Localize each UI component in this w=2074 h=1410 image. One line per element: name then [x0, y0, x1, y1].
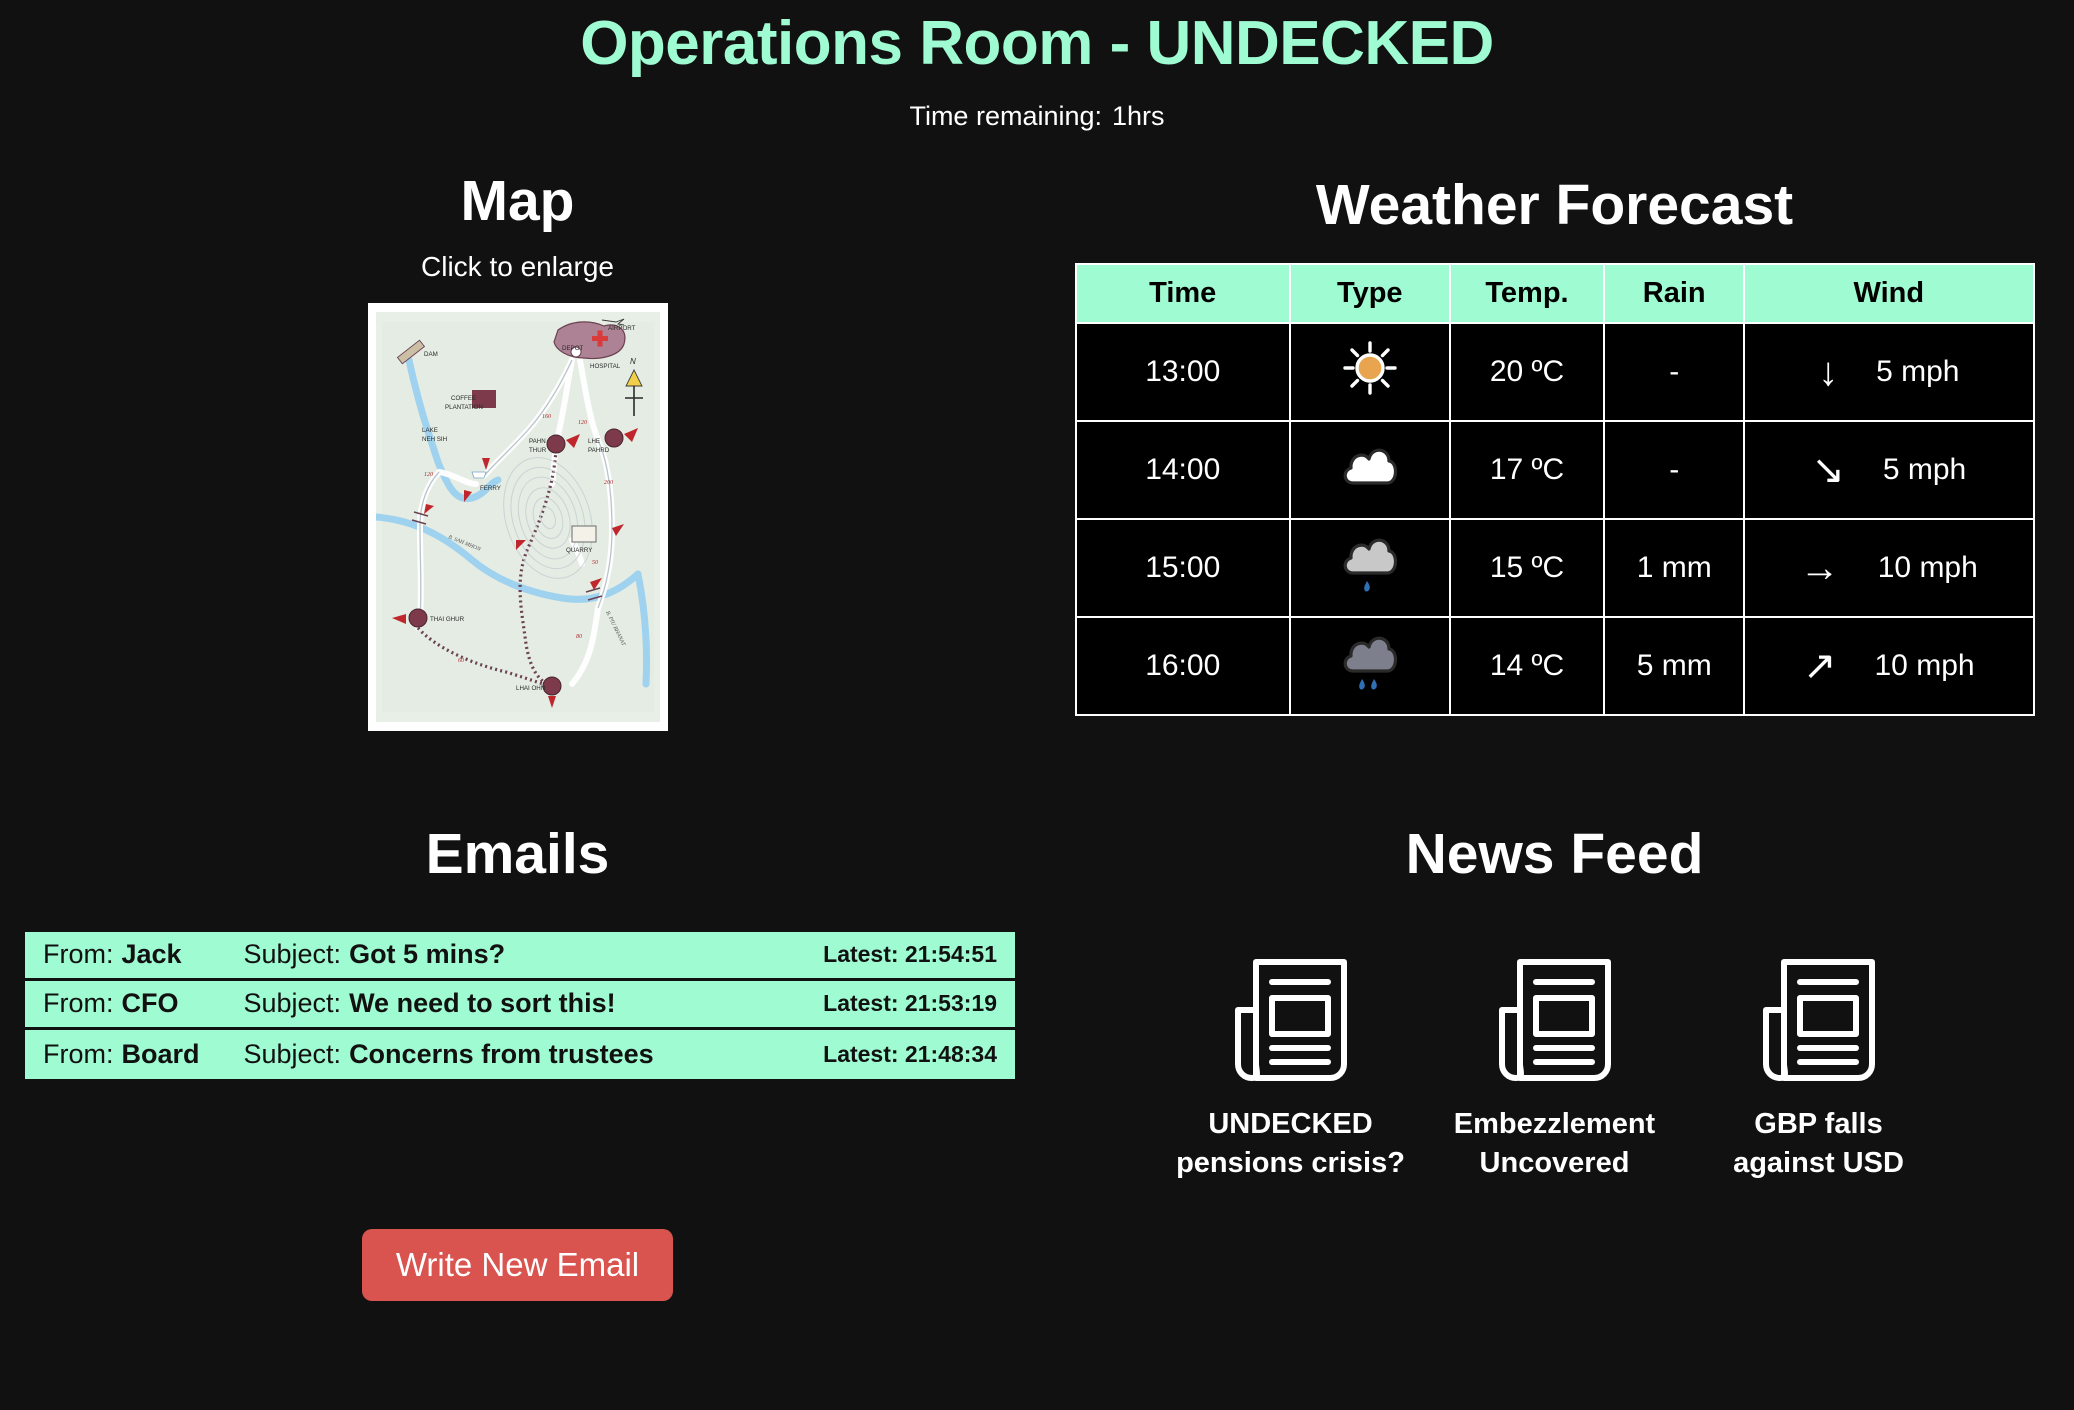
cell-rain: 1 mm — [1604, 519, 1744, 617]
wind-direction-arrow-icon: → — [1800, 548, 1840, 588]
email-subject: Concerns from trustees — [349, 1039, 654, 1070]
cell-wind: ↘ 5 mph — [1744, 421, 2033, 519]
svg-text:QUARRY: QUARRY — [566, 547, 592, 554]
email-latest-time: Latest: 21:53:19 — [823, 990, 997, 1017]
svg-text:HOSPITAL: HOSPITAL — [590, 363, 621, 370]
cell-temp: 17 ºC — [1450, 421, 1605, 519]
news-headline: Embezzlement Uncovered — [1440, 1105, 1670, 1183]
news-panel: News Feed — [1035, 731, 2074, 1301]
weather-heading: Weather Forecast — [1035, 174, 2074, 237]
cell-time: 14:00 — [1076, 421, 1290, 519]
cell-time: 16:00 — [1076, 617, 1290, 715]
map-heading: Map — [0, 170, 1035, 233]
map-image[interactable]: DAM DEPOT AIRPORT HOSPITAL COFFEE PLANTA… — [376, 312, 660, 722]
table-row: 13:00 — [1076, 323, 2034, 421]
svg-text:DEPOT: DEPOT — [562, 345, 584, 352]
cell-rain: - — [1604, 323, 1744, 421]
newspaper-icon — [1480, 952, 1630, 1087]
svg-text:AIRPORT: AIRPORT — [608, 325, 636, 332]
operations-room-page: Operations Room - UNDECKED Time remainin… — [0, 8, 2074, 1410]
cell-temp: 20 ºC — [1450, 323, 1605, 421]
svg-text:80: 80 — [576, 634, 582, 640]
wind-speed: 5 mph — [1883, 453, 1966, 487]
weather-forecast-table: Time Type Temp. Rain Wind 13:00 — [1075, 263, 2035, 716]
column-header-rain: Rain — [1604, 264, 1744, 323]
cell-wind: ↓ 5 mph — [1744, 323, 2033, 421]
cell-rain: - — [1604, 421, 1744, 519]
wind-direction-arrow-icon: ↗ — [1803, 646, 1837, 686]
list-item[interactable]: GBP falls against USD — [1704, 952, 1934, 1183]
cell-type — [1290, 323, 1450, 421]
list-item[interactable]: From: Jack Subject: Got 5 mins? Latest: … — [25, 932, 1015, 981]
svg-text:DAM: DAM — [424, 351, 438, 358]
time-remaining-label: Time remaining: — [909, 101, 1102, 131]
newspaper-icon — [1744, 952, 1894, 1087]
wind-speed: 10 mph — [1878, 551, 1978, 585]
weather-panel: Weather Forecast Time Type Temp. Rain Wi… — [1035, 132, 2074, 731]
svg-text:N: N — [630, 357, 636, 366]
emails-heading: Emails — [0, 823, 1035, 886]
map-panel: Map Click to enlarge — [0, 132, 1035, 731]
svg-text:PAHN: PAHN — [529, 438, 546, 445]
column-header-temp: Temp. — [1450, 264, 1605, 323]
cloud-icon — [1339, 441, 1401, 499]
time-remaining: Time remaining:1hrs — [0, 101, 2074, 132]
cloud-heavy-rain-icon — [1339, 629, 1401, 703]
email-from-label: From: — [43, 1039, 114, 1070]
table-row: 16:00 14 ºC — [1076, 617, 2034, 715]
news-headline: UNDECKED pensions crisis? — [1176, 1105, 1406, 1183]
email-from-label: From: — [43, 988, 114, 1019]
svg-text:NEH SIH: NEH SIH — [422, 436, 447, 443]
cell-type — [1290, 519, 1450, 617]
news-item-list: UNDECKED pensions crisis? — [1035, 952, 2074, 1183]
wind-speed: 5 mph — [1876, 355, 1959, 389]
svg-text:60: 60 — [458, 658, 464, 664]
map-frame[interactable]: DAM DEPOT AIRPORT HOSPITAL COFFEE PLANTA… — [368, 303, 668, 731]
write-new-email-button[interactable]: Write New Email — [362, 1229, 673, 1301]
news-heading: News Feed — [1035, 823, 2074, 886]
email-subject: We need to sort this! — [349, 988, 616, 1019]
column-header-type: Type — [1290, 264, 1450, 323]
email-sender: Jack — [122, 939, 214, 970]
time-remaining-value: 1hrs — [1112, 101, 1165, 131]
email-subject-label: Subject: — [244, 1039, 342, 1070]
cloud-light-rain-icon — [1339, 531, 1401, 605]
email-latest-time: Latest: 21:54:51 — [823, 941, 997, 968]
table-header-row: Time Type Temp. Rain Wind — [1076, 264, 2034, 323]
email-sender: CFO — [122, 988, 214, 1019]
list-item[interactable]: Embezzlement Uncovered — [1440, 952, 1670, 1183]
svg-text:120: 120 — [578, 420, 587, 426]
svg-text:200: 200 — [604, 480, 613, 486]
email-sender: Board — [122, 1039, 214, 1070]
wind-speed: 10 mph — [1875, 649, 1975, 683]
svg-text:LHE: LHE — [588, 438, 600, 445]
list-item[interactable]: From: Board Subject: Concerns from trust… — [25, 1030, 1015, 1079]
svg-text:120: 120 — [424, 472, 433, 478]
svg-text:160: 160 — [542, 414, 551, 420]
svg-text:THUR: THUR — [529, 447, 547, 454]
list-item[interactable]: UNDECKED pensions crisis? — [1176, 952, 1406, 1183]
table-row: 15:00 15 ºC 1 mm — [1076, 519, 2034, 617]
list-item[interactable]: From: CFO Subject: We need to sort this!… — [25, 981, 1015, 1030]
weather-table-wrap: Time Type Temp. Rain Wind 13:00 — [1035, 263, 2074, 716]
email-subject: Got 5 mins? — [349, 939, 505, 970]
sun-icon — [1341, 339, 1399, 405]
write-email-button-wrap: Write New Email — [0, 1229, 1035, 1301]
svg-text:THAI GHUR: THAI GHUR — [430, 616, 465, 623]
cell-time: 15:00 — [1076, 519, 1290, 617]
wind-direction-arrow-icon: ↓ — [1818, 352, 1838, 392]
svg-text:LAKE: LAKE — [422, 427, 438, 434]
email-subject-label: Subject: — [244, 988, 342, 1019]
cell-time: 13:00 — [1076, 323, 1290, 421]
svg-text:FERRY: FERRY — [480, 485, 501, 492]
column-header-wind: Wind — [1744, 264, 2033, 323]
svg-text:COFFEE: COFFEE — [451, 395, 476, 402]
email-list: From: Jack Subject: Got 5 mins? Latest: … — [25, 932, 1015, 1079]
map-svg[interactable]: DAM DEPOT AIRPORT HOSPITAL COFFEE PLANTA… — [376, 312, 660, 722]
bottom-row: Emails From: Jack Subject: Got 5 mins? L… — [0, 731, 2074, 1301]
cell-rain: 5 mm — [1604, 617, 1744, 715]
emails-panel: Emails From: Jack Subject: Got 5 mins? L… — [0, 731, 1035, 1301]
page-title: Operations Room - UNDECKED — [0, 8, 2074, 79]
cell-type — [1290, 617, 1450, 715]
svg-text:PAHRD: PAHRD — [588, 447, 610, 454]
cell-temp: 14 ºC — [1450, 617, 1605, 715]
cell-temp: 15 ºC — [1450, 519, 1605, 617]
email-subject-label: Subject: — [244, 939, 342, 970]
cell-wind: ↗ 10 mph — [1744, 617, 2033, 715]
top-row: Map Click to enlarge — [0, 132, 2074, 731]
column-header-time: Time — [1076, 264, 1290, 323]
cell-wind: → 10 mph — [1744, 519, 2033, 617]
map-thumbnail-wrap[interactable]: DAM DEPOT AIRPORT HOSPITAL COFFEE PLANTA… — [0, 303, 1035, 731]
newspaper-icon — [1216, 952, 1366, 1087]
map-hint: Click to enlarge — [0, 251, 1035, 283]
email-latest-time: Latest: 21:48:34 — [823, 1041, 997, 1068]
svg-text:PLANTATION: PLANTATION — [445, 404, 483, 411]
cell-type — [1290, 421, 1450, 519]
news-headline: GBP falls against USD — [1704, 1105, 1934, 1183]
svg-text:50: 50 — [592, 560, 598, 566]
svg-text:LHAI OHN: LHAI OHN — [516, 685, 545, 692]
table-row: 14:00 17 ºC - — [1076, 421, 2034, 519]
email-from-label: From: — [43, 939, 114, 970]
wind-direction-arrow-icon: ↘ — [1811, 450, 1845, 490]
